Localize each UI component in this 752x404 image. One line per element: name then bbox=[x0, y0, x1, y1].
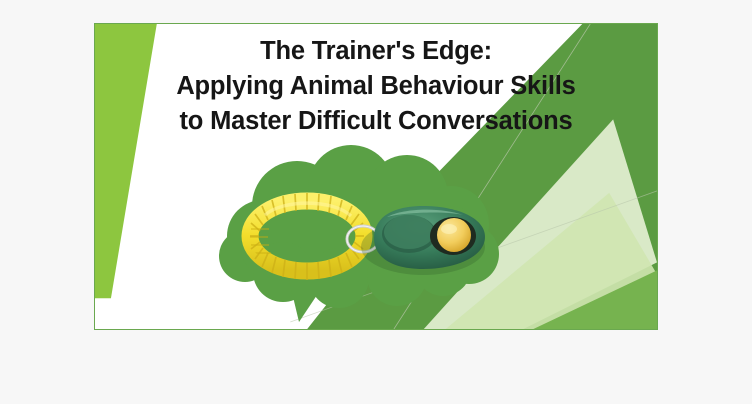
thought-bubble bbox=[211, 144, 511, 330]
title-line-2: Applying Animal Behaviour Skills bbox=[95, 69, 657, 104]
title-line-3: to Master Difficult Conversations bbox=[95, 104, 657, 139]
slide-canvas: The Trainer's Edge: Applying Animal Beha… bbox=[0, 0, 752, 404]
right-mid-wedge-shape bbox=[533, 270, 657, 329]
slide-title: The Trainer's Edge: Applying Animal Beha… bbox=[95, 34, 657, 139]
title-line-1: The Trainer's Edge: bbox=[95, 34, 657, 69]
dog-clicker-photo bbox=[241, 189, 491, 284]
clicker-body-icon bbox=[361, 206, 485, 275]
presentation-slide[interactable]: The Trainer's Edge: Applying Animal Beha… bbox=[94, 23, 658, 330]
clicker-illustration-icon bbox=[241, 189, 491, 284]
